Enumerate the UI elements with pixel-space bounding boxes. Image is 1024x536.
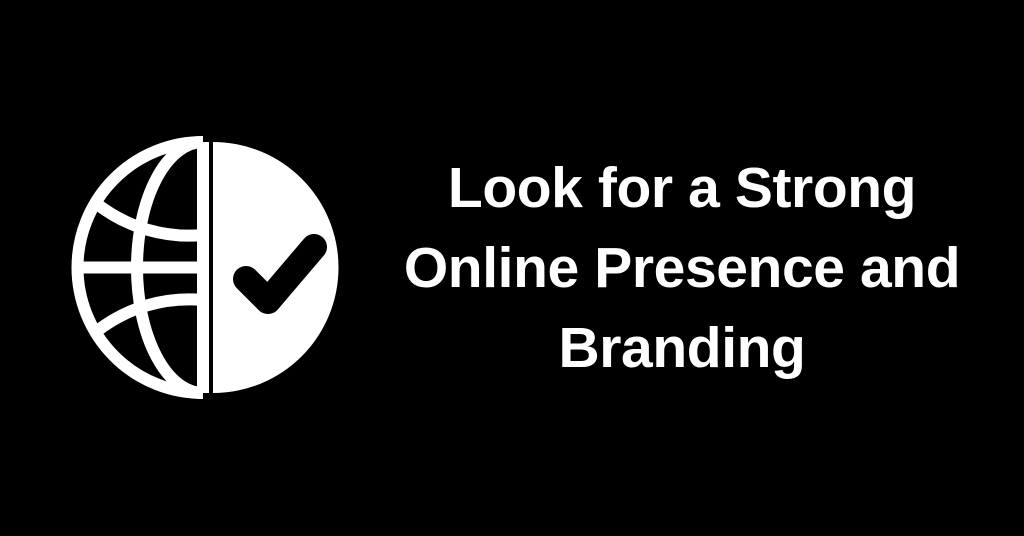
headline-line-3: Branding xyxy=(372,308,992,388)
globe-check-icon xyxy=(69,131,342,404)
globe-solid-right-half xyxy=(213,142,339,393)
banner-root: Look for a Strong Online Presence and Br… xyxy=(0,0,1024,536)
headline-line-1: Look for a Strong xyxy=(372,148,992,228)
headline-line-2: Online Presence and xyxy=(372,228,992,308)
globe-wireframe-left xyxy=(78,142,204,393)
headline: Look for a Strong Online Presence and Br… xyxy=(372,148,992,388)
